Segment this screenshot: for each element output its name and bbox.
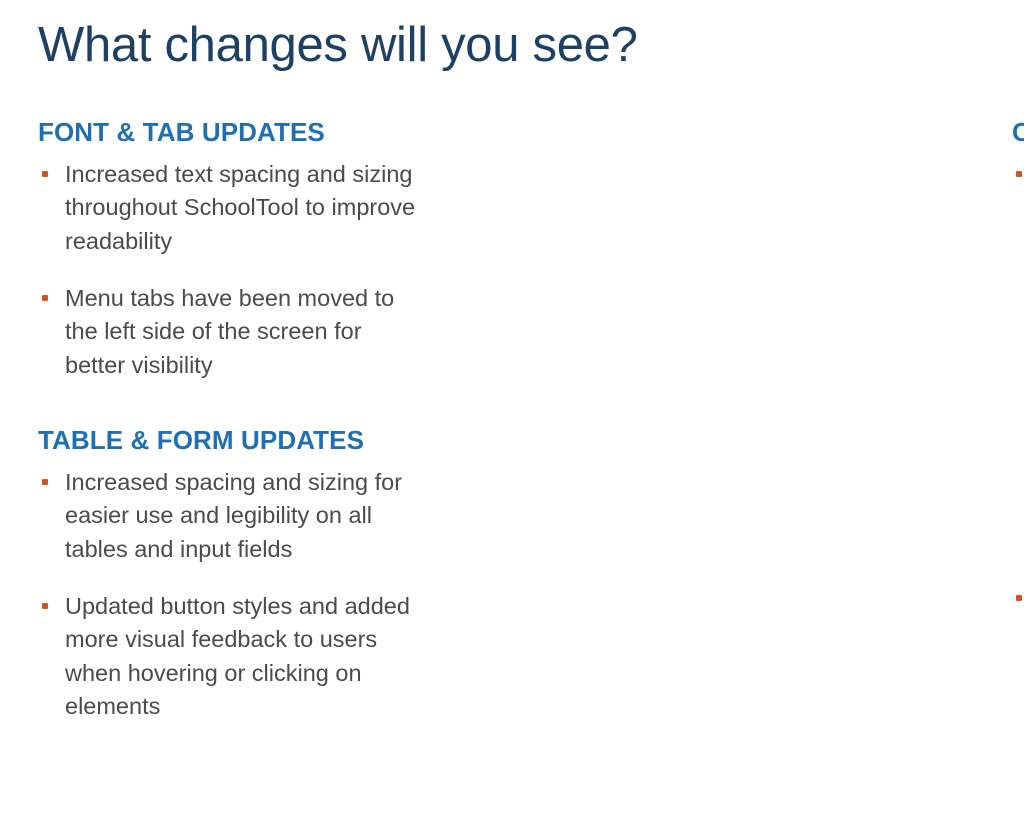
bullet-dot-icon bbox=[42, 171, 48, 177]
section-heading-font-tab-updates: FONT & TAB UPDATES bbox=[38, 118, 428, 148]
right-column: COLOR UPDATES Gold-colored backgrounds r… bbox=[462, 118, 1024, 827]
bullet-dot-icon bbox=[42, 603, 48, 609]
bullet-list-font-tab-updates: Increased text spacing and sizing throug… bbox=[38, 158, 428, 382]
list-item: Menu tabs have been moved to the left si… bbox=[38, 282, 428, 382]
bullet-list-table-form-updates: Increased spacing and sizing for easier … bbox=[38, 466, 428, 724]
bullet-dot-icon bbox=[1016, 595, 1022, 601]
list-item: Light gray background added throughout t… bbox=[1012, 582, 1024, 827]
list-item-text: Updated button styles and added more vis… bbox=[65, 590, 428, 723]
list-item-text: Increased text spacing and sizing throug… bbox=[65, 158, 428, 258]
slide: What changes will you see? FONT & TAB UP… bbox=[0, 0, 1024, 827]
list-item: Increased spacing and sizing for easier … bbox=[38, 466, 428, 566]
bullet-dot-icon bbox=[42, 479, 48, 485]
list-item-text: Menu tabs have been moved to the left si… bbox=[65, 282, 428, 382]
section-table-form-updates: TABLE & FORM UPDATES Increased spacing a… bbox=[38, 426, 428, 723]
section-font-tab-updates: FONT & TAB UPDATES Increased text spacin… bbox=[38, 118, 428, 382]
section-heading-table-form-updates: TABLE & FORM UPDATES bbox=[38, 426, 428, 456]
list-item: Increased text spacing and sizing throug… bbox=[38, 158, 428, 258]
list-item-text: Increased spacing and sizing for easier … bbox=[65, 466, 428, 566]
list-item: Updated button styles and added more vis… bbox=[38, 590, 428, 723]
list-item: Gold-colored backgrounds removed from ta… bbox=[1012, 158, 1024, 558]
left-column: FONT & TAB UPDATES Increased text spacin… bbox=[0, 118, 462, 723]
bullet-dot-icon bbox=[42, 295, 48, 301]
page-title: What changes will you see? bbox=[38, 18, 638, 73]
content-columns: FONT & TAB UPDATES Increased text spacin… bbox=[0, 118, 1024, 827]
bullet-dot-icon bbox=[1016, 171, 1022, 177]
